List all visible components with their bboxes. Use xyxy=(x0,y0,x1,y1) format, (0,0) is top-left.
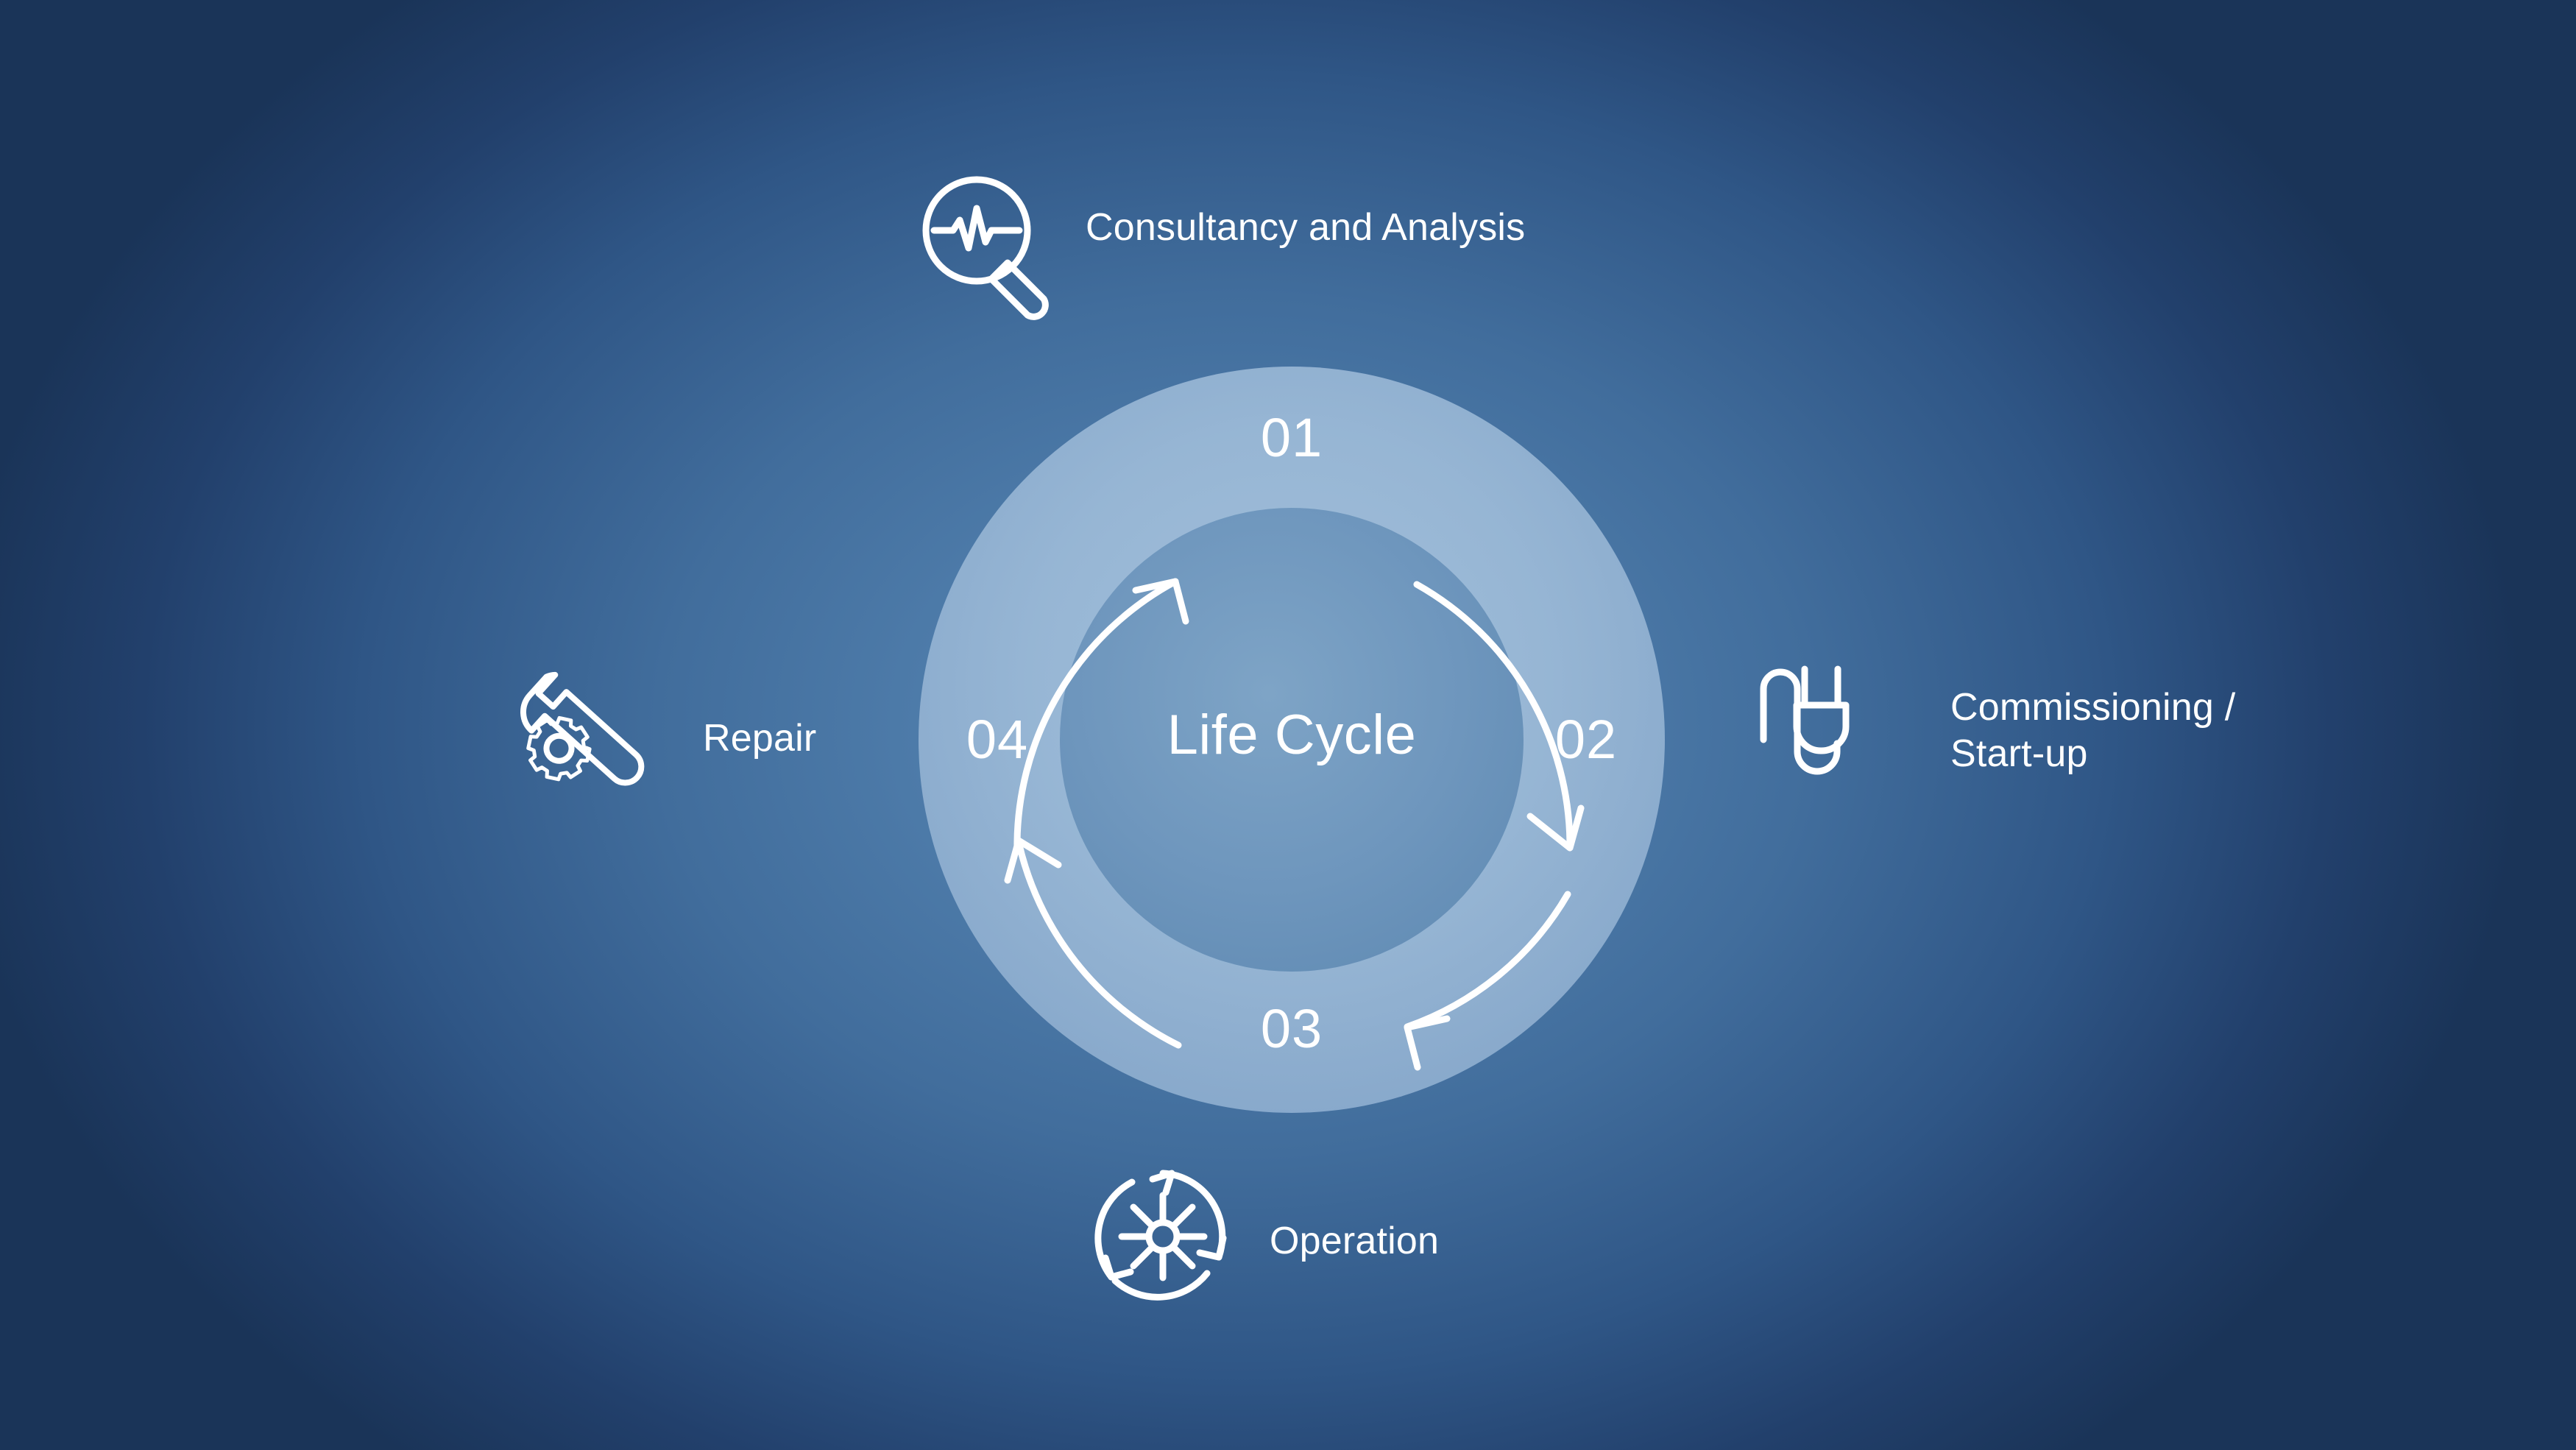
ring-number-03: 03 xyxy=(1218,997,1365,1060)
stage-label-operation: Operation xyxy=(1270,1218,1711,1265)
center-title: Life Cycle xyxy=(1071,703,1512,767)
wrench-gear-icon xyxy=(508,651,655,799)
power-plug-icon xyxy=(1755,659,1895,813)
stage-label-consultancy: Consultancy and Analysis xyxy=(1086,205,1748,251)
stage-label-repair: Repair xyxy=(703,715,997,762)
stage-label-commissioning: Commissioning / Start-up xyxy=(1950,685,2539,778)
magnifier-pulse-icon xyxy=(909,166,1071,328)
cycle-turbine-icon xyxy=(1089,1163,1236,1310)
ring-number-01: 01 xyxy=(1218,406,1365,469)
ring-number-02: 02 xyxy=(1512,708,1660,771)
life-cycle-slide: 01 02 03 04 Life Cycle Consultancy and A… xyxy=(0,0,2576,1450)
